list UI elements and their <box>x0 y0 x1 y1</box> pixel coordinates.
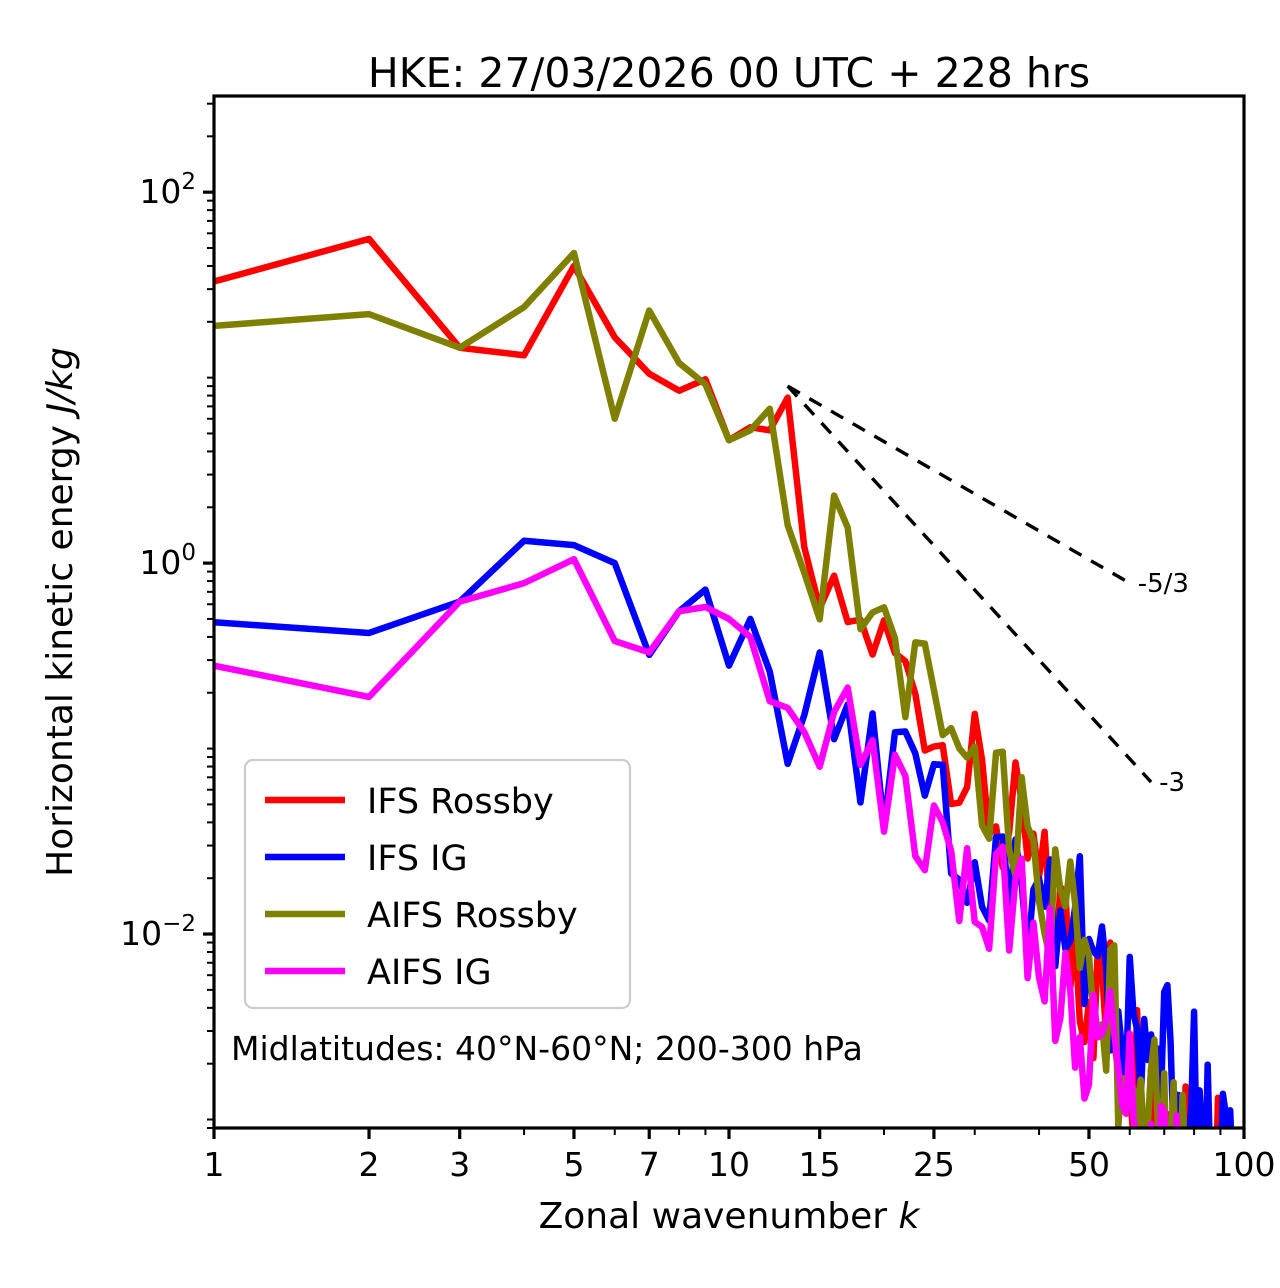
slope-label-53: -5/3 <box>1138 569 1189 599</box>
x-axis-label: Zonal wavenumber k <box>539 1196 922 1237</box>
x-tick-label-7: 7 <box>639 1145 660 1184</box>
chart-page: HKE: 27/03/2026 00 UTC + 228 hrs Horizon… <box>0 0 1280 1288</box>
x-tick-label-10: 10 <box>708 1145 750 1184</box>
x-tick-label-25: 25 <box>913 1145 955 1184</box>
y-tick-label-10^2: 102 <box>139 169 196 211</box>
x-tick-label-50: 50 <box>1068 1145 1110 1184</box>
y-tick-label-10^0: 100 <box>139 540 196 582</box>
x-tick-label-15: 15 <box>799 1145 841 1184</box>
x-tick-label-5: 5 <box>563 1145 584 1184</box>
slope-label-3: -3 <box>1159 768 1185 798</box>
x-axis-label-text: Zonal wavenumber <box>539 1196 899 1237</box>
page-title: HKE: 27/03/2026 00 UTC + 228 hrs <box>368 49 1090 97</box>
x-tick-label-100: 100 <box>1213 1145 1276 1184</box>
x-tick-label-2: 2 <box>359 1145 380 1184</box>
legend-label-aifs-ig: AIFS IG <box>367 953 492 993</box>
region-annotation: Midlatitudes: 40°N-60°N; 200-300 hPa <box>231 1029 863 1068</box>
slope-labels: -5/3-3 <box>1138 569 1189 798</box>
svg-text:Zonal wavenumber k: Zonal wavenumber k <box>539 1196 922 1237</box>
y-axis-label-text: Horizontal kinetic energy <box>40 414 81 877</box>
y-tick-label-10^-2: 10−2 <box>120 911 196 953</box>
x-tick-label-1: 1 <box>204 1145 225 1184</box>
y-axis-label-unit: J/kg <box>40 347 81 419</box>
svg-text:Horizontal kinetic energy J/kg: Horizontal kinetic energy J/kg <box>40 347 81 877</box>
x-tick-label-3: 3 <box>449 1145 470 1184</box>
legend: IFS RossbyIFS IGAIFS RossbyAIFS IG <box>245 760 630 1008</box>
slope-line-53 <box>788 386 1130 583</box>
legend-label-ifs-rossby: IFS Rossby <box>367 782 554 822</box>
legend-label-aifs-rossby: AIFS Rossby <box>367 896 578 936</box>
spectrum-figure: HKE: 27/03/2026 00 UTC + 228 hrs Horizon… <box>0 0 1280 1288</box>
x-axis-label-symbol: k <box>899 1196 922 1237</box>
y-axis-label: Horizontal kinetic energy J/kg <box>40 347 81 877</box>
legend-label-ifs-ig: IFS IG <box>367 839 468 879</box>
